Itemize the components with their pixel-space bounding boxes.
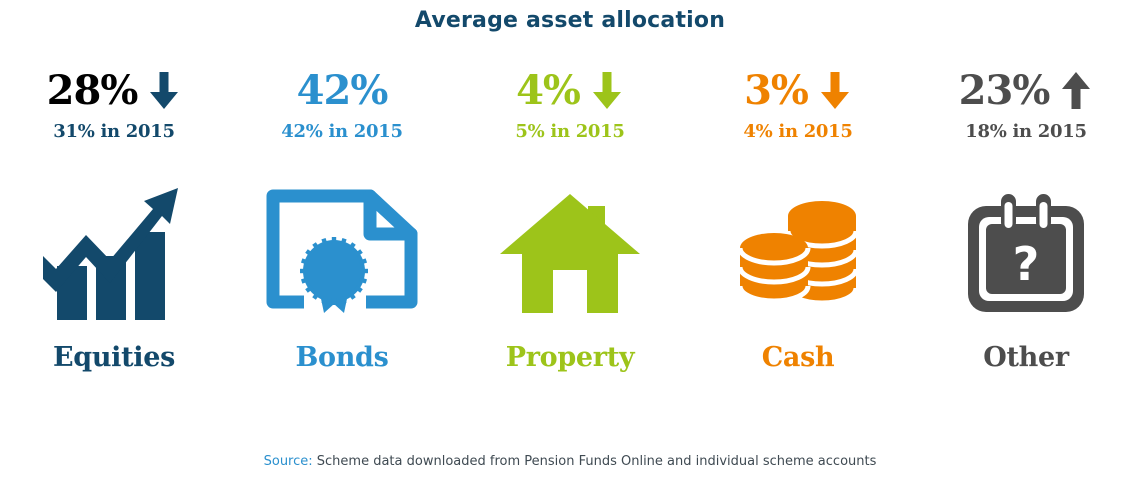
source-note: Source: Scheme data downloaded from Pens…	[0, 454, 1140, 469]
previous-equities: 31% in 2015	[53, 121, 174, 143]
infographic-root: Average asset allocation 28% 31% in 2015	[0, 0, 1140, 481]
trend-down-icon	[818, 70, 852, 112]
percent-bonds: 42%	[297, 71, 388, 111]
percent-equities: 28%	[47, 71, 138, 111]
growth-chart-icon	[14, 179, 214, 329]
page-title: Average asset allocation	[0, 0, 1140, 41]
trend-down-icon	[147, 70, 181, 112]
svg-text:?: ?	[1013, 237, 1040, 291]
asset-label-cash: Cash	[762, 343, 835, 373]
coins-icon	[698, 179, 898, 329]
stat-row-property: 4%	[516, 67, 624, 115]
source-text: Scheme data downloaded from Pension Fund…	[317, 454, 877, 469]
percent-cash: 3%	[744, 71, 808, 111]
stat-row-bonds: 42%	[297, 67, 388, 115]
trend-down-icon	[590, 70, 624, 112]
asset-label-property: Property	[506, 343, 635, 373]
asset-label-bonds: Bonds	[295, 343, 388, 373]
certificate-icon	[242, 179, 442, 329]
previous-property: 5% in 2015	[515, 121, 624, 143]
asset-column-bonds: 42% 42% in 2015	[228, 67, 456, 373]
percent-other: 23%	[959, 71, 1050, 111]
asset-label-other: Other	[983, 343, 1069, 373]
question-notepad-icon: ?	[926, 179, 1126, 329]
asset-column-other: 23% 18% in 2015	[912, 67, 1140, 373]
percent-property: 4%	[516, 71, 580, 111]
source-keyword: Source:	[264, 454, 313, 469]
previous-other: 18% in 2015	[965, 121, 1086, 143]
stat-row-equities: 28%	[47, 67, 182, 115]
asset-column-cash: 3% 4% in 2015	[684, 67, 912, 373]
stat-row-other: 23%	[959, 67, 1094, 115]
previous-cash: 4% in 2015	[743, 121, 852, 143]
previous-bonds: 42% in 2015	[281, 121, 402, 143]
asset-column-property: 4% 5% in 2015 Property	[456, 67, 684, 373]
asset-label-equities: Equities	[53, 343, 175, 373]
stat-row-cash: 3%	[744, 67, 852, 115]
trend-up-icon	[1059, 70, 1093, 112]
house-icon	[470, 179, 670, 329]
asset-column-equities: 28% 31% in 2015 Equit	[0, 67, 228, 373]
asset-columns: 28% 31% in 2015 Equit	[0, 67, 1140, 373]
